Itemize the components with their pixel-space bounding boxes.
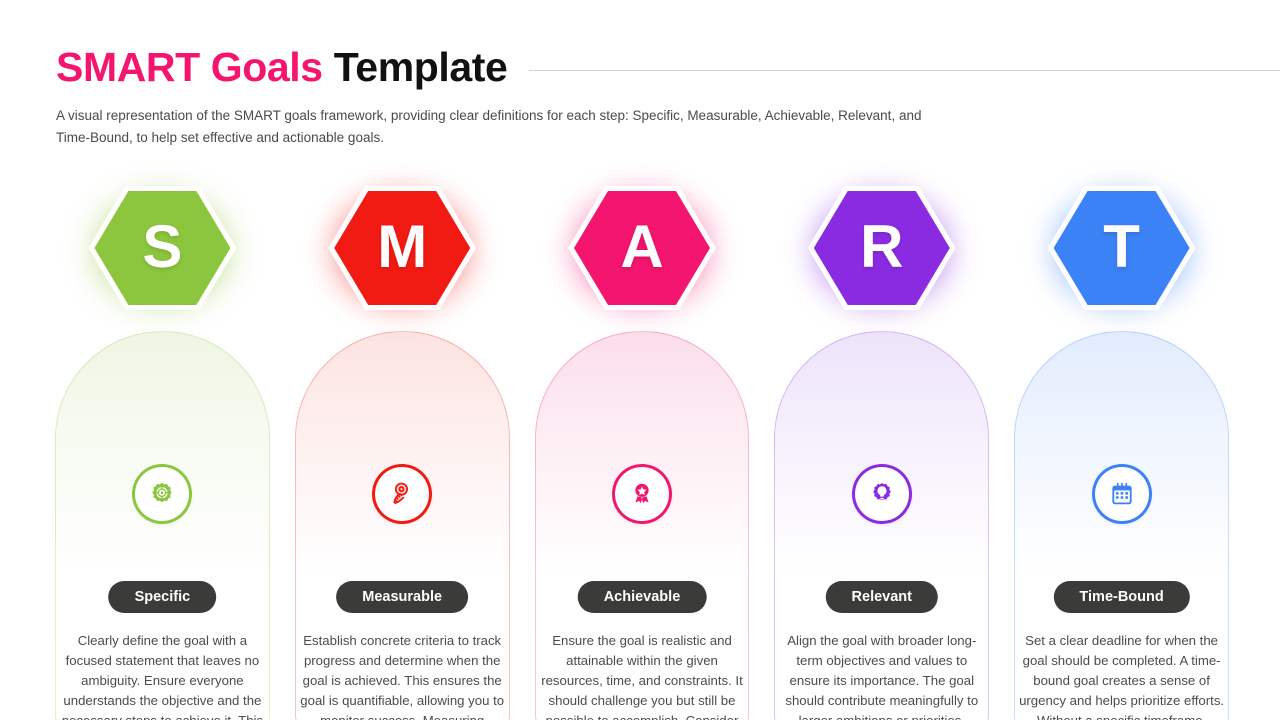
smart-column-specific: SSpecificClearly define the goal with a …: [47, 186, 278, 720]
hexagon-letter: T: [1103, 217, 1140, 277]
page-title-plain: Template: [334, 44, 508, 90]
letter-hexagon[interactable]: M: [328, 186, 476, 310]
smart-column-achievable: AAchievableEnsure the goal is realistic …: [527, 186, 758, 720]
smart-columns: SSpecificClearly define the goal with a …: [47, 186, 1237, 720]
measuring-tape-icon[interactable]: [375, 467, 429, 521]
column-label-pill[interactable]: Measurable: [336, 581, 468, 613]
column-description: Clearly define the goal with a focused s…: [57, 631, 268, 720]
page-title: SMART Goals Template: [56, 44, 507, 91]
column-label-pill[interactable]: Time-Bound: [1053, 581, 1189, 613]
column-label-pill[interactable]: Achievable: [578, 581, 707, 613]
letter-hexagon[interactable]: A: [568, 186, 716, 310]
smart-column-relevant: RRelevantAlign the goal with broader lon…: [766, 186, 997, 720]
title-row: SMART Goals Template: [56, 44, 1280, 91]
hexagon-letter: A: [620, 217, 663, 277]
slide-canvas: SMART Goals Template A visual representa…: [0, 0, 1280, 720]
award-medal-icon[interactable]: [615, 467, 669, 521]
column-description: Ensure the goal is realistic and attaina…: [537, 631, 748, 720]
calendar-icon[interactable]: [1095, 467, 1149, 521]
hexagon-letter: M: [377, 217, 427, 277]
gear-target-icon[interactable]: [135, 467, 189, 521]
letter-hexagon[interactable]: R: [808, 186, 956, 310]
column-label-pill[interactable]: Specific: [109, 581, 217, 613]
column-description: Align the goal with broader long-term ob…: [776, 631, 987, 720]
column-description: Set a clear deadline for when the goal s…: [1016, 631, 1227, 720]
lightbulb-gear-icon[interactable]: [855, 467, 909, 521]
column-description: Establish concrete criteria to track pro…: [297, 631, 508, 720]
smart-column-time-bound: TTime-BoundSet a clear deadline for when…: [1006, 186, 1237, 720]
hexagon-letter: S: [142, 217, 182, 277]
slide-header: SMART Goals Template A visual representa…: [56, 44, 1280, 148]
page-subtitle: A visual representation of the SMART goa…: [56, 105, 956, 148]
smart-column-measurable: MMeasurableEstablish concrete criteria t…: [287, 186, 518, 720]
hexagon-letter: R: [860, 217, 903, 277]
letter-hexagon[interactable]: S: [88, 186, 236, 310]
page-title-accent: SMART Goals: [56, 44, 323, 90]
letter-hexagon[interactable]: T: [1048, 186, 1196, 310]
title-divider: [529, 70, 1280, 71]
column-label-pill[interactable]: Relevant: [826, 581, 938, 613]
